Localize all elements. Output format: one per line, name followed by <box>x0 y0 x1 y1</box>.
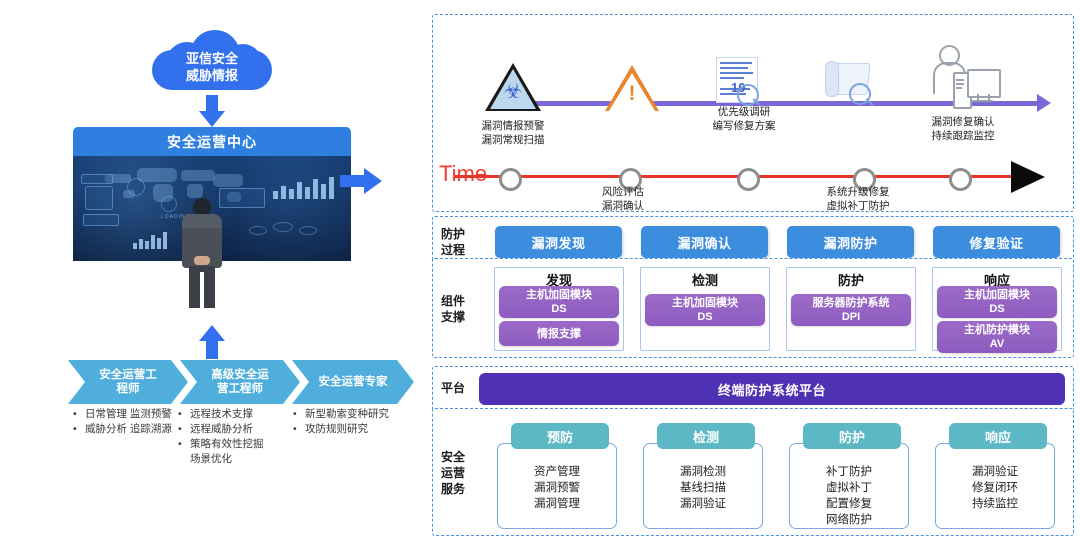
timeline-node <box>949 168 972 191</box>
service-header[interactable]: 检测 <box>657 423 755 449</box>
timeline-node <box>737 168 760 191</box>
list-item: 补丁防护 <box>790 464 908 480</box>
exclamation-glyph: ! <box>625 83 639 104</box>
list-item: 修复闭环 <box>936 480 1054 496</box>
services-row-label: 安全 运营 服务 <box>441 449 465 497</box>
component-title: 防护 <box>787 270 915 289</box>
caption-line2: 编写修复方案 <box>684 119 804 133</box>
caption-line2: 虚拟补丁防护 <box>803 199 913 213</box>
report-document-icon: 10 <box>716 57 758 103</box>
timeline-caption-top-2: 优先级调研 编写修复方案 <box>684 105 804 133</box>
list-item: 漏洞验证 <box>644 496 762 512</box>
list-item: 基线扫描 <box>644 480 762 496</box>
list-item: 漏洞检测 <box>644 464 762 480</box>
dashboard-panel <box>81 174 113 184</box>
threat-intel-cloud: 亚信安全 威胁情报 <box>152 28 272 90</box>
list-item: 攻防规则研究 <box>305 422 422 437</box>
arrow-up-icon <box>199 325 225 359</box>
list-item: 远程技术支撑 <box>190 407 287 422</box>
service-header[interactable]: 防护 <box>803 423 901 449</box>
arrow-down-icon <box>199 95 225 127</box>
service-header[interactable]: 预防 <box>511 423 609 449</box>
service-header[interactable]: 响应 <box>949 423 1047 449</box>
caption-line2: 漏洞确认 <box>568 199 678 213</box>
role-chevron-row: 安全运营工 程师 高级安全运 营工程师 安全运营专家 <box>68 360 408 404</box>
service-items: 漏洞验证 修复闭环 持续监控 <box>935 443 1055 529</box>
list-item: 漏洞验证 <box>936 464 1054 480</box>
timeline-red-line <box>455 175 1017 178</box>
list-item: 配置修复 <box>790 496 908 512</box>
component-tag[interactable]: 主机加固模块 DS <box>645 294 765 326</box>
role-3-line1: 安全运营专家 <box>319 375 388 389</box>
dashboard-panel <box>83 214 119 226</box>
right-panel: ☣ ! 10 <box>428 0 1080 545</box>
biohazard-icon: ☣ <box>485 63 541 111</box>
component-column-2: 检测 主机加固模块 DS <box>640 267 770 351</box>
component-tag[interactable]: 主机加固模块 DS <box>499 286 619 318</box>
list-item: 资产管理 <box>498 464 616 480</box>
role-1-line2: 程师 <box>99 382 157 396</box>
caption-line1: 漏洞修复确认 <box>903 115 1023 129</box>
list-item: 漏洞管理 <box>498 496 616 512</box>
timeline-caption-bottom-2: 系统升级修复 虚拟补丁防护 <box>803 185 913 213</box>
role-2-line1: 高级安全运 <box>211 368 269 382</box>
dashboard-panel <box>85 186 113 210</box>
caption-line1: 系统升级修复 <box>803 185 913 199</box>
timeline-node <box>499 168 522 191</box>
diagram-canvas: 亚信安全 威胁情报 安全运营中心 <box>0 0 1080 545</box>
platform-block: 平台 终端防护系统平台 <box>432 366 1074 412</box>
role-2-line2: 营工程师 <box>211 382 269 396</box>
scroll-plan-icon <box>825 61 875 103</box>
component-tag[interactable]: 情报支撑 <box>499 321 619 346</box>
component-block: 组件 支撑 发现 主机加固模块 DS 情报支撑 检测 <box>432 258 1074 358</box>
component-row-label: 组件 支撑 <box>441 293 465 325</box>
process-box-1[interactable]: 漏洞发现 <box>495 226 622 258</box>
warning-triangle-icon: ! <box>605 65 659 111</box>
list-item: 漏洞预警 <box>498 480 616 496</box>
role-chevron-3[interactable]: 安全运营专家 <box>292 360 414 404</box>
timeline-caption-top-1: 漏洞情报预警 漏洞常规扫描 <box>453 119 573 147</box>
component-tag[interactable]: 服务器防护系统 DPI <box>791 294 911 326</box>
biohazard-glyph: ☣ <box>503 81 523 105</box>
timeline-red-arrowhead <box>1011 161 1045 193</box>
list-item: 场景优化 <box>190 452 287 467</box>
list-item: 网络防护 <box>790 512 908 528</box>
service-items: 资产管理 漏洞预警 漏洞管理 <box>497 443 617 529</box>
dashboard-panel <box>219 188 265 208</box>
component-tag[interactable]: 主机防护模块 AV <box>937 321 1057 353</box>
cloud-label-line2: 威胁情报 <box>152 67 272 84</box>
platform-row-label: 平台 <box>441 380 465 396</box>
time-axis-label: Time <box>439 161 487 187</box>
list-item: 持续监控 <box>936 496 1054 512</box>
timeline-block: ☣ ! 10 <box>432 14 1074 212</box>
list-item: 策略有效性挖掘 <box>190 437 287 452</box>
component-tag[interactable]: 主机加固模块 DS <box>937 286 1057 318</box>
role-3-bullets: 新型勒索变种研究 攻防规则研究 <box>292 407 422 437</box>
process-box-3[interactable]: 漏洞防护 <box>787 226 914 258</box>
component-column-1: 发现 主机加固模块 DS 情报支撑 <box>494 267 624 351</box>
cloud-label-line1: 亚信安全 <box>152 50 272 67</box>
list-item: 新型勒索变种研究 <box>305 407 422 422</box>
caption-line2: 持续跟踪监控 <box>903 129 1023 143</box>
process-box-2[interactable]: 漏洞确认 <box>641 226 768 258</box>
role-1-line1: 安全运营工 <box>99 368 157 382</box>
soc-title-bar: 安全运营中心 <box>73 127 351 156</box>
platform-bar[interactable]: 终端防护系统平台 <box>479 373 1065 405</box>
cloud-label: 亚信安全 威胁情报 <box>152 50 272 84</box>
service-items: 补丁防护 虚拟补丁 配置修复 网络防护 <box>789 443 909 529</box>
component-title: 检测 <box>641 270 769 289</box>
caption-line2: 漏洞常规扫描 <box>453 133 573 147</box>
service-items: 漏洞检测 基线扫描 漏洞验证 <box>643 443 763 529</box>
component-column-4: 响应 主机加固模块 DS 主机防护模块 AV <box>932 267 1062 351</box>
role-chevron-2[interactable]: 高级安全运 营工程师 <box>180 360 300 404</box>
timeline-purple-arrowhead <box>1037 94 1051 112</box>
caption-line1: 风险评估 <box>568 185 678 199</box>
role-2-bullets: 远程技术支撑 远程威胁分析 策略有效性挖掘 场景优化 <box>177 407 287 467</box>
caption-line1: 优先级调研 <box>684 105 804 119</box>
services-block: 安全 运营 服务 预防 资产管理 漏洞预警 漏洞管理 检测 漏洞检测 基线扫描 … <box>432 408 1074 536</box>
process-row-label: 防护 过程 <box>441 226 465 258</box>
list-item: 虚拟补丁 <box>790 480 908 496</box>
operator-workstation-icon <box>931 45 997 109</box>
timeline-caption-top-3: 漏洞修复确认 持续跟踪监控 <box>903 115 1023 143</box>
caption-line1: 漏洞情报预警 <box>453 119 573 133</box>
process-box-4[interactable]: 修复验证 <box>933 226 1060 258</box>
analyst-silhouette <box>180 198 224 308</box>
component-column-3: 防护 服务器防护系统 DPI <box>786 267 916 351</box>
list-item: 远程威胁分析 <box>190 422 287 437</box>
arrow-right-icon <box>340 168 384 194</box>
role-chevron-1[interactable]: 安全运营工 程师 <box>68 360 188 404</box>
timeline-caption-bottom-1: 风险评估 漏洞确认 <box>568 185 678 213</box>
left-panel: 亚信安全 威胁情报 安全运营中心 <box>0 0 425 545</box>
